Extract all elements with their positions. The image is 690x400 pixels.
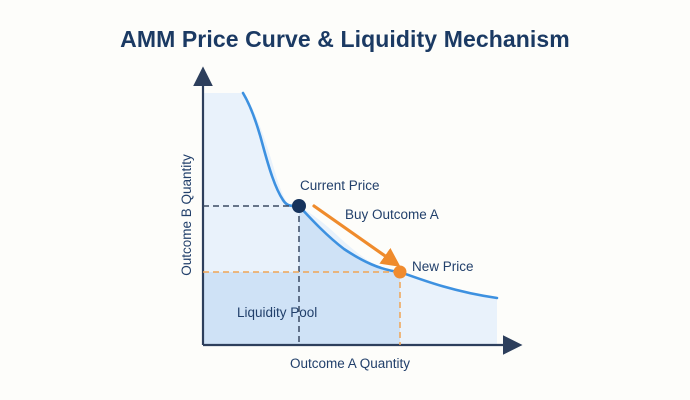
current-price-marker[interactable]: [292, 199, 306, 213]
current-price-label: Current Price: [300, 178, 380, 193]
new-price-label: New Price: [412, 259, 474, 274]
diagram-canvas: AMM Price Curve & Liquidity Mechanism: [0, 0, 690, 400]
buy-outcome-label: Buy Outcome A: [345, 207, 439, 222]
new-price-marker[interactable]: [394, 266, 407, 279]
amm-price-curve-chart: Current Price Buy Outcome A New Price Li…: [0, 0, 690, 400]
y-axis-label: Outcome B Quantity: [179, 154, 194, 276]
liquidity-pool-label: Liquidity Pool: [237, 305, 317, 320]
x-axis-label: Outcome A Quantity: [290, 356, 410, 371]
